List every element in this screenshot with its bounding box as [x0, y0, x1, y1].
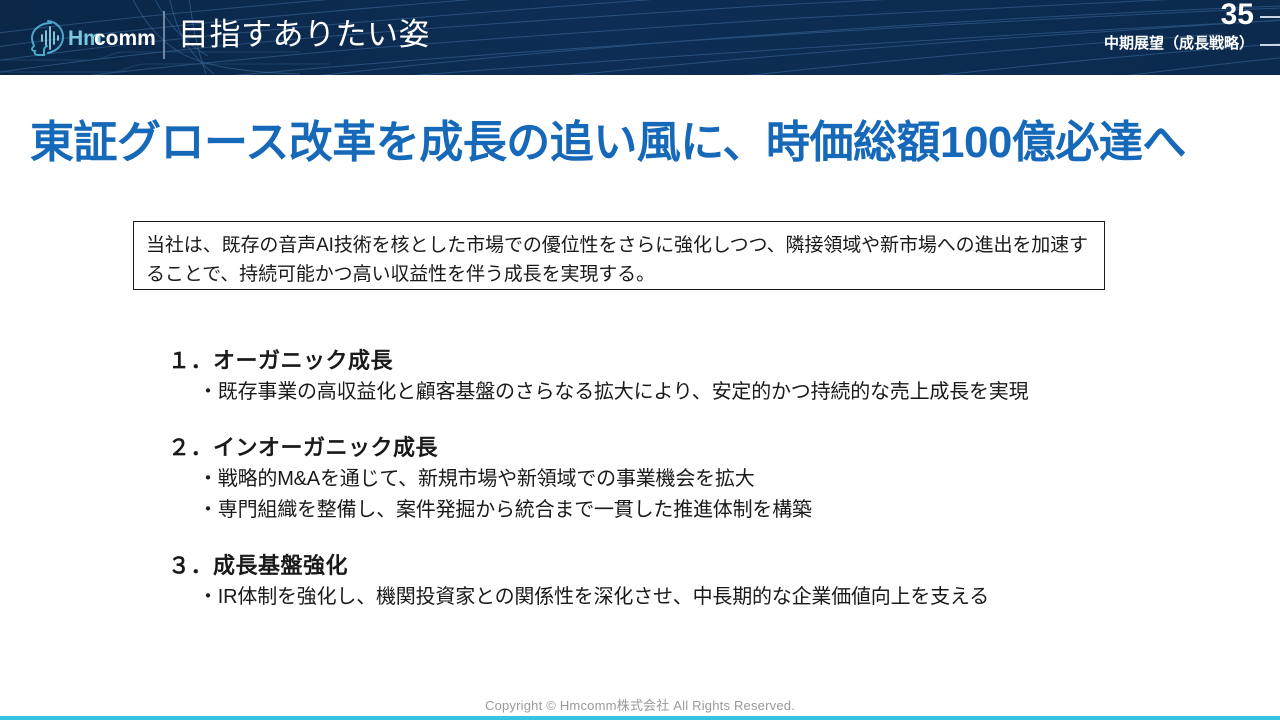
bullet-line: ・専門組織を整備し、案件発掘から統合まで一貫した推進体制を構築: [168, 495, 1228, 526]
group-bullets: ・IR体制を強化し、機関投資家との関係性を深化させ、中長期的な企業価値向上を支え…: [168, 582, 1228, 613]
bullet-line: ・戦略的M&Aを通じて、新規市場や新領域での事業機会を拡大: [168, 464, 1228, 495]
page-number: 35: [1221, 0, 1254, 32]
header-divider: [163, 11, 165, 59]
list-group: ２．インオーガニック成長 ・戦略的M&Aを通じて、新規市場や新領域での事業機会を…: [168, 432, 1228, 526]
group-heading: １．オーガニック成長: [168, 345, 1228, 377]
footer-accent-bar: [0, 716, 1280, 720]
section-label: 中期展望（成長戦略）: [1104, 33, 1254, 55]
slide-header: Hm comm 目指すありたい姿 35 中期展望（成長戦略）: [0, 0, 1280, 75]
header-title: 目指すありたい姿: [178, 11, 430, 59]
footer-copyright: Copyright © Hmcomm株式会社 All Rights Reserv…: [0, 695, 1280, 714]
head-waveform-icon: Hm comm: [18, 15, 158, 59]
slide-title: 東証グロース改革を成長の追い風に、時価総額100億必達へ: [30, 112, 1260, 174]
list-group: ３．成長基盤強化 ・IR体制を強化し、機関投資家との関係性を深化させ、中長期的な…: [168, 550, 1228, 613]
group-heading: ３．成長基盤強化: [168, 550, 1228, 582]
summary-box: 当社は、既存の音声AI技術を核とした市場での優位性をさらに強化しつつ、隣接領域や…: [133, 221, 1105, 290]
logo-text-comm: comm: [94, 27, 156, 50]
group-bullets: ・既存事業の高収益化と顧客基盤のさらなる拡大により、安定的かつ持続的な売上成長を…: [168, 377, 1228, 408]
page-number-value: 35: [1221, 0, 1254, 31]
summary-text: 当社は、既存の音声AI技術を核とした市場での優位性をさらに強化しつつ、隣接領域や…: [146, 231, 1092, 289]
group-bullets: ・戦略的M&Aを通じて、新規市場や新領域での事業機会を拡大 ・専門組織を整備し、…: [168, 464, 1228, 526]
strategy-list: １．オーガニック成長 ・既存事業の高収益化と顧客基盤のさらなる拡大により、安定的…: [168, 345, 1228, 613]
company-logo: Hm comm: [18, 14, 158, 60]
page-number-dash-icon: [1260, 16, 1280, 18]
section-label-dash-icon: [1260, 44, 1280, 46]
bullet-line: ・既存事業の高収益化と顧客基盤のさらなる拡大により、安定的かつ持続的な売上成長を…: [168, 377, 1228, 408]
group-heading: ２．インオーガニック成長: [168, 432, 1228, 464]
list-group: １．オーガニック成長 ・既存事業の高収益化と顧客基盤のさらなる拡大により、安定的…: [168, 345, 1228, 408]
bullet-line: ・IR体制を強化し、機関投資家との関係性を深化させ、中長期的な企業価値向上を支え…: [168, 582, 1228, 613]
